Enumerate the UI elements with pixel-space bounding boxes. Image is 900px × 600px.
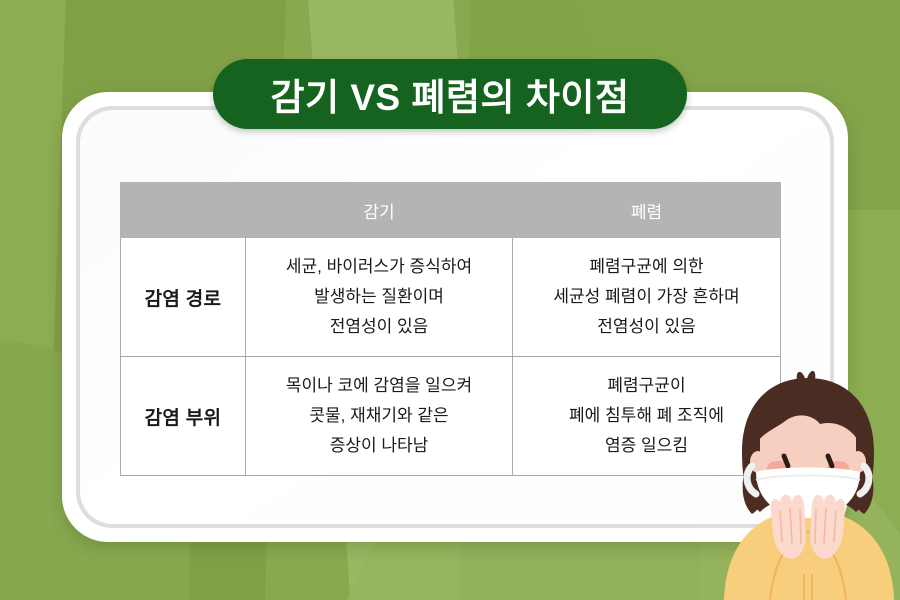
cell-line: 콧물, 재채기와 같은 — [246, 401, 512, 431]
cell-pneumonia-infection-route: 폐렴구균에 의한 세균성 폐렴이 가장 흔하며 전염성이 있음 — [513, 238, 781, 357]
table-header-pneumonia: 폐렴 — [513, 183, 781, 238]
page-title: 감기 VS 폐렴의 차이점 — [270, 67, 629, 121]
cell-line: 폐렴구균에 의한 — [513, 252, 780, 282]
girl-with-mask-illustration — [716, 368, 900, 600]
cell-line: 증상이 나타남 — [246, 431, 512, 461]
table-header-corner — [121, 183, 246, 238]
cell-cold-infection-site: 목이나 코에 감염을 일으켜 콧물, 재채기와 같은 증상이 나타남 — [246, 357, 513, 476]
infographic-canvas: 감기 VS 폐렴의 차이점 감기 폐렴 감염 경로 세균, 바이러스가 증식하여… — [0, 0, 900, 600]
table-header-cold: 감기 — [246, 183, 513, 238]
title-banner: 감기 VS 폐렴의 차이점 — [213, 59, 687, 129]
table-row: 감염 부위 목이나 코에 감염을 일으켜 콧물, 재채기와 같은 증상이 나타남… — [121, 357, 781, 476]
cell-line: 발생하는 질환이며 — [246, 282, 512, 312]
row-label-infection-site: 감염 부위 — [121, 357, 246, 476]
cell-line: 전염성이 있음 — [246, 312, 512, 342]
sweater-shape — [724, 510, 894, 600]
cell-line: 세균성 폐렴이 가장 흔하며 — [513, 282, 780, 312]
table-row: 감염 경로 세균, 바이러스가 증식하여 발생하는 질환이며 전염성이 있음 폐… — [121, 238, 781, 357]
table-header-row: 감기 폐렴 — [121, 183, 781, 238]
cell-cold-infection-route: 세균, 바이러스가 증식하여 발생하는 질환이며 전염성이 있음 — [246, 238, 513, 357]
row-label-infection-route: 감염 경로 — [121, 238, 246, 357]
cell-line: 세균, 바이러스가 증식하여 — [246, 252, 512, 282]
cell-line: 목이나 코에 감염을 일으켜 — [246, 371, 512, 401]
comparison-table: 감기 폐렴 감염 경로 세균, 바이러스가 증식하여 발생하는 질환이며 전염성… — [120, 182, 781, 476]
cell-line: 전염성이 있음 — [513, 312, 780, 342]
